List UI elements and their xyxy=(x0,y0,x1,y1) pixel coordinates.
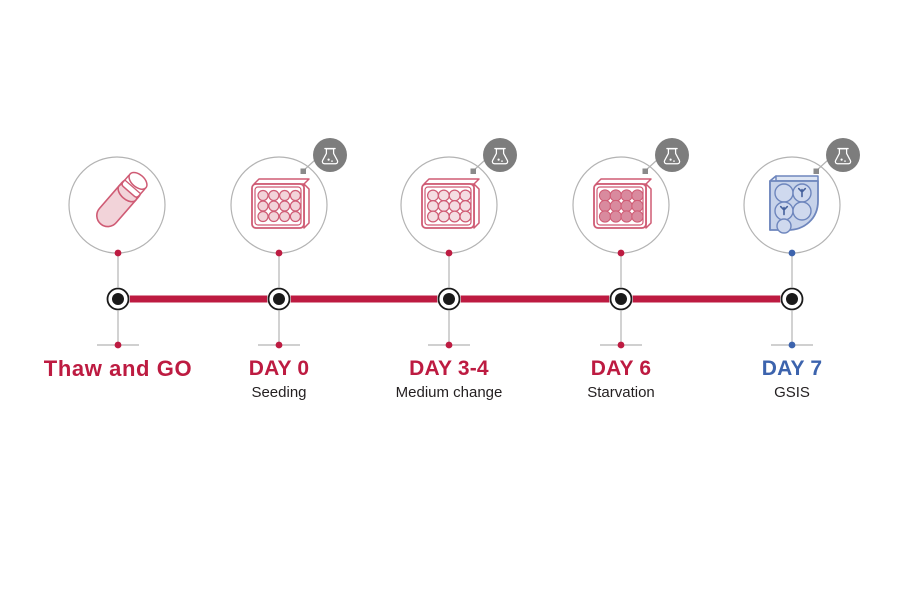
step-icon-circle-day-7[interactable] xyxy=(744,138,860,256)
step-title: DAY 6 xyxy=(587,356,655,382)
well-plate-icon xyxy=(422,179,479,228)
timeline-node-thaw-and-go[interactable] xyxy=(106,287,130,311)
step-icon-circle-day-0[interactable] xyxy=(231,138,347,256)
connector-dot xyxy=(276,250,283,257)
timeline-diagram: Thaw and GO DAY 0 Seeding DAY 3-4 Medium… xyxy=(0,0,900,600)
step-icon-circle-day-3-4[interactable] xyxy=(401,138,517,256)
well-plate-icon xyxy=(594,179,651,228)
timeline-node-day-0[interactable] xyxy=(267,287,291,311)
timeline-node-day-3-4[interactable] xyxy=(437,287,461,311)
connector-dot xyxy=(618,250,625,257)
step-label-day-3-4[interactable]: DAY 3-4 Medium change xyxy=(396,356,503,403)
step-title: Thaw and GO xyxy=(44,356,192,382)
step-label-thaw-and-go[interactable]: Thaw and GO xyxy=(44,356,192,383)
step-icon-circle-thaw-and-go[interactable] xyxy=(69,157,165,256)
flask-badge-circle xyxy=(313,138,347,172)
flask-badge-circle xyxy=(826,138,860,172)
timeline-canvas xyxy=(0,0,900,600)
step-title: DAY 0 xyxy=(249,356,310,382)
step-subtitle: GSIS xyxy=(762,383,823,403)
step-title: DAY 7 xyxy=(762,356,823,382)
step-title: DAY 3-4 xyxy=(396,356,503,382)
step-subtitle: Medium change xyxy=(396,383,503,403)
connector-dot xyxy=(446,250,453,257)
timeline-node-day-6[interactable] xyxy=(609,287,633,311)
step-label-day-0[interactable]: DAY 0 Seeding xyxy=(249,356,310,403)
connector-dot xyxy=(789,250,796,257)
step-label-day-6[interactable]: DAY 6 Starvation xyxy=(587,356,655,403)
connector-dot xyxy=(115,250,122,257)
step-subtitle: Seeding xyxy=(249,383,310,403)
timeline-node-day-7[interactable] xyxy=(780,287,804,311)
step-label-day-7[interactable]: DAY 7 GSIS xyxy=(762,356,823,403)
step-icon-circle-day-6[interactable] xyxy=(573,138,689,256)
flask-badge-circle xyxy=(655,138,689,172)
step-subtitle: Starvation xyxy=(587,383,655,403)
flask-badge-circle xyxy=(483,138,517,172)
well-plate-icon xyxy=(252,179,309,228)
